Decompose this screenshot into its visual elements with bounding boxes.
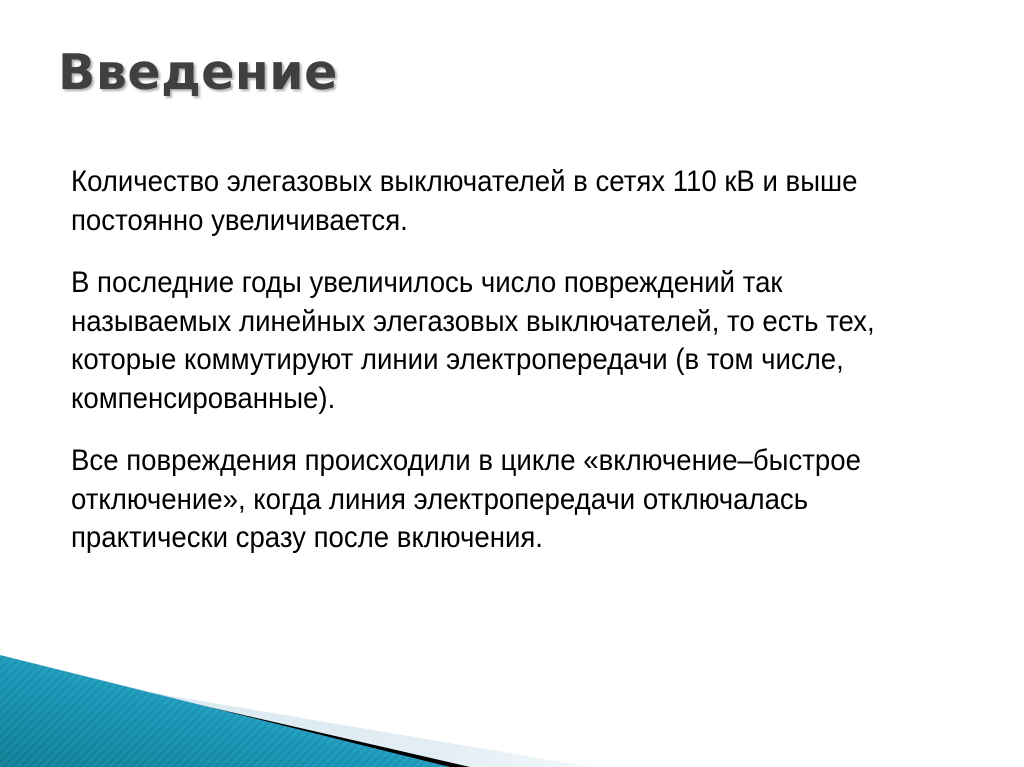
decoration-black-band: [0, 659, 470, 767]
body-paragraph: В последние годы увеличилось число повре…: [71, 264, 903, 418]
presentation-slide: Введение Количество элегазовых выключате…: [0, 0, 1024, 767]
slide-body: Количество элегазовых выключателей в сет…: [71, 163, 961, 558]
page-title: Введение: [58, 48, 958, 97]
decoration-texture: [0, 637, 620, 767]
decoration-teal-wedge: [0, 655, 450, 767]
decoration-pale-band: [0, 667, 592, 767]
corner-decoration: [0, 637, 620, 767]
body-paragraph: Все повреждения происходили в цикле «вкл…: [71, 442, 903, 558]
body-paragraph: Количество элегазовых выключателей в сет…: [71, 163, 903, 240]
decoration-shapes: [0, 637, 620, 767]
